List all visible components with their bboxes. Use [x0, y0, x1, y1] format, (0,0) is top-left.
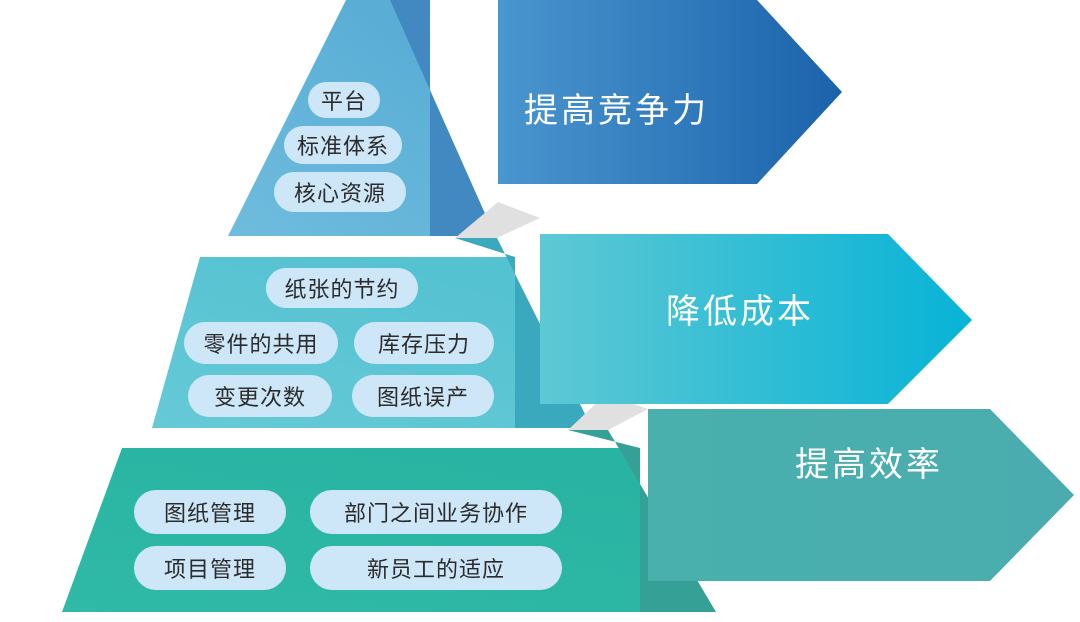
pyramid-benefit-diagram: 提高竞争力 降低成本 提高效率 平台 标准体系 核心资源 纸张的节约 零件的共用… [0, 0, 1080, 622]
pill-tier-middle-2[interactable]: 零件的共用 [184, 322, 338, 364]
arrow-label-bottom: 提高效率 [795, 437, 943, 486]
pill-tier-bottom-2[interactable]: 部门之间业务协作 [310, 490, 562, 534]
pill-tier-bottom-4[interactable]: 新员工的适应 [310, 546, 562, 590]
pill-tier-middle-1[interactable]: 纸张的节约 [266, 268, 418, 308]
pill-tier-middle-3[interactable]: 库存压力 [354, 322, 494, 364]
arrow-band-bottom [648, 409, 1074, 581]
pill-tier-bottom-1[interactable]: 图纸管理 [134, 490, 286, 534]
pill-tier-bottom-3[interactable]: 项目管理 [134, 546, 286, 590]
pill-tier-top-3[interactable]: 核心资源 [274, 172, 406, 212]
arrow-label-top: 提高竞争力 [524, 83, 709, 132]
pill-tier-middle-4[interactable]: 变更次数 [188, 375, 332, 417]
arrow-label-middle: 降低成本 [666, 284, 814, 333]
pill-tier-top-1[interactable]: 平台 [308, 82, 380, 118]
pill-tier-middle-5[interactable]: 图纸误产 [352, 375, 494, 417]
pill-tier-top-2[interactable]: 标准体系 [284, 126, 402, 164]
